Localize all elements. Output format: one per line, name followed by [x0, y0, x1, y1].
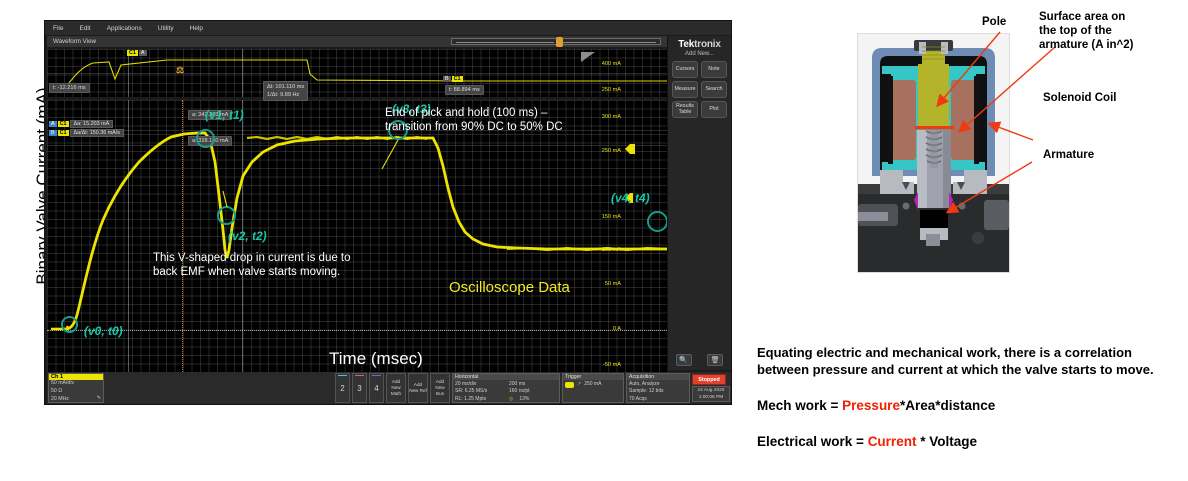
solenoid-svg [858, 34, 1009, 272]
trigger-level-marker[interactable] [625, 144, 635, 154]
cursor-a-tag[interactable]: C1 A [127, 50, 147, 56]
results-table-button[interactable]: Results Table [672, 101, 698, 118]
annotation-vshape: This V-shaped drop in current is due to … [153, 251, 363, 279]
main-graticule: 300 mA 250 mA 150 mA 100 mA 50 mA 0 A -5… [47, 100, 667, 374]
solenoid-cross-section-image [857, 33, 1010, 273]
waveform-view-titlebar: Waveform View [47, 36, 667, 47]
cursor-a-time: t: -12.216 ms [49, 83, 90, 93]
cursors-button[interactable]: Cursors [672, 61, 698, 78]
menu-item-file[interactable]: File [53, 25, 63, 32]
callout-surface-area: Surface area on the top of the armature … [1039, 11, 1143, 52]
zoom-area-icon [581, 52, 597, 64]
overview-trace [47, 49, 667, 97]
horizontal-percent-icon: ◎ [509, 396, 513, 403]
current-term: Current [868, 434, 917, 449]
tektronix-logo: Tektronix [668, 39, 731, 50]
overview-graticule: 400 mA 250 mA [47, 49, 667, 97]
magnifier-icon[interactable]: 🔍 [676, 354, 692, 366]
add-new-ref-button[interactable]: Add New Ref [408, 373, 428, 403]
bottom-bar-spacer [106, 373, 333, 403]
run-status-group: Stopped 24 Aug 2020 1:00:06 PM [692, 373, 730, 403]
note-button[interactable]: Note [701, 61, 727, 78]
current-waveform [47, 100, 667, 374]
explanatory-text-block: Equating electric and mechanical work, t… [757, 344, 1177, 450]
channel-4-button[interactable]: 4 [369, 373, 384, 403]
horizontal-record-length: RL: 1.25 Mpts [455, 396, 503, 403]
horizontal-percent: 13% [519, 396, 529, 403]
trash-icon[interactable]: 🗑 [707, 354, 723, 366]
trigger-level: 250 mA [584, 381, 601, 388]
horizontal-position: 200 ms [509, 381, 525, 388]
pressure-term: Pressure [842, 398, 900, 413]
acquisition-sample: Sample: 12 bits [629, 388, 687, 395]
callout-armature: Armature [1043, 149, 1094, 163]
waveform-view-label: Waveform View [47, 38, 96, 45]
cursor-b-time: t: 88.894 ms [445, 85, 484, 95]
panel-button-grid: Cursors Note Measure Search Results Tabl… [668, 57, 731, 118]
channel-3-button[interactable]: 3 [352, 373, 367, 403]
channel-1-badge[interactable]: Ch 1 50 mA/div 50 Ω 20 MHz ✎ [48, 373, 104, 403]
marker-v0-circle [61, 316, 78, 333]
pencil-icon[interactable]: ✎ [97, 395, 101, 401]
marker-v1-label: (v1, t1) [205, 108, 244, 122]
zoom-overview-scrollbar[interactable] [451, 38, 661, 45]
marker-v4-label: (v4, t4) [611, 191, 650, 205]
channel-1-bandwidth: 20 MHz [49, 396, 103, 404]
trigger-source-chip [565, 382, 574, 388]
scope-menubar: File Edit Applications Utility Help [45, 21, 731, 35]
marker-v4-circle [647, 211, 668, 232]
plot-button[interactable]: Plot [701, 101, 727, 118]
channel-1-impedance: 50 Ω [49, 388, 103, 396]
zoom-handle[interactable] [556, 37, 563, 47]
zoom-left-track [456, 42, 554, 43]
panel-icon-row: 🔍 🗑 [668, 354, 731, 366]
cursor-delta-readout: A C1 Δa: 15.203 mA B C1 Δa/Δt: 150.36 mA… [49, 120, 124, 137]
status-badge[interactable]: Stopped [692, 374, 726, 385]
trigger-marker-icon[interactable]: ⚖ [176, 65, 184, 76]
horizontal-scale: 20 ms/div [455, 381, 503, 388]
callout-solenoid-coil: Solenoid Coil [1043, 92, 1116, 106]
add-new-math-button[interactable]: Add New Math [386, 373, 406, 403]
cursor-b-tag[interactable]: B C1 [443, 76, 463, 82]
menu-item-utility[interactable]: Utility [158, 25, 174, 32]
marker-v2-label: (v2, t2) [228, 229, 267, 243]
electrical-work-equation: Electrical work = Current * Voltage [757, 433, 1177, 451]
trigger-slope-icon: ↗ [577, 381, 581, 388]
channel-1-scale: 50 mA/div [49, 380, 103, 388]
slide-canvas: Binary Valve Current (mA) File Edit Appl… [0, 0, 1188, 481]
oscilloscope-screenshot: File Edit Applications Utility Help Wave… [44, 20, 732, 405]
callout-pole: Pole [982, 16, 1006, 30]
horizontal-resolution: 160 ns/pt [509, 388, 530, 395]
x-axis-title: Time (msec) [329, 349, 423, 369]
channel-2-button[interactable]: 2 [335, 373, 350, 403]
annotation-pick-hold: End of pick and hold (100 ms) – transiti… [385, 106, 590, 134]
horizontal-settings[interactable]: Horizontal 20 ms/div 200 ms SR: 6.25 MS/… [452, 373, 560, 403]
add-new-bus-button[interactable]: Add New Bus [430, 373, 450, 403]
scope-right-panel: Tektronix Add New... Cursors Note Measur… [667, 36, 731, 370]
mech-work-equation: Mech work = Pressure*Area*distance [757, 397, 1177, 415]
oscilloscope-data-label: Oscilloscope Data [449, 279, 570, 296]
datetime-readout: 24 Aug 2020 1:00:06 PM [692, 386, 730, 402]
acquisition-mode: Auto, Analyze [629, 381, 687, 388]
marker-v1-circle [196, 129, 215, 148]
scope-bottom-bar: Ch 1 50 mA/div 50 Ω 20 MHz ✎ 2 3 4 [47, 372, 731, 404]
search-button[interactable]: Search [701, 81, 727, 98]
measure-button[interactable]: Measure [672, 81, 698, 98]
acquisition-settings[interactable]: Acquisition Auto, Analyze Sample: 12 bit… [626, 373, 690, 403]
delta-t-readout: Δt: 101.110 ms 1/Δt: 9.89 Hz [263, 81, 308, 101]
date-label: 24 Aug 2020 [694, 387, 728, 394]
zoom-right-track [558, 42, 656, 43]
time-label: 1:00:06 PM [694, 394, 728, 401]
marker-v2-circle [217, 206, 236, 225]
correlation-paragraph: Equating electric and mechanical work, t… [757, 344, 1177, 379]
menu-item-edit[interactable]: Edit [79, 25, 90, 32]
menu-item-applications[interactable]: Applications [107, 25, 142, 32]
horizontal-sample-rate: SR: 6.25 MS/s [455, 388, 503, 395]
menu-item-help[interactable]: Help [190, 25, 203, 32]
trigger-settings[interactable]: Trigger ↗ 250 mA [562, 373, 624, 403]
marker-v0-label: (v0, t0) [84, 324, 123, 338]
acquisition-acqs: 70 Acqs [629, 396, 687, 403]
